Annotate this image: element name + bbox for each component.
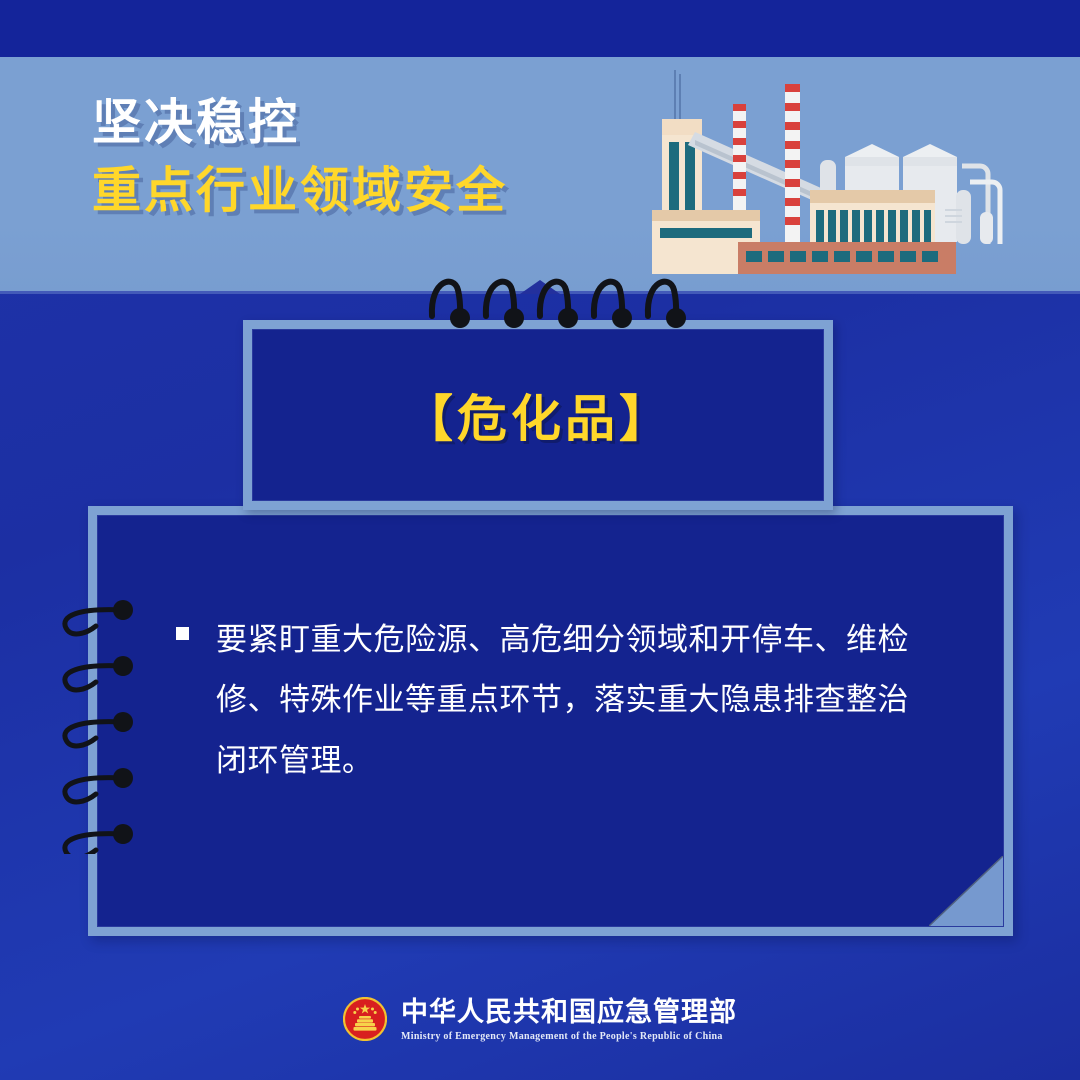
content-card: 要紧盯重大危险源、高危细分领域和开停车、维检修、特殊作业等重点环节，落实重大隐患… — [88, 506, 1013, 936]
section-title-card-inner: 【危化品】 — [252, 329, 824, 501]
section-title-text: 【危化品】 — [403, 379, 673, 451]
page-fold-icon — [929, 856, 1003, 926]
content-card-inner: 要紧盯重大危险源、高危细分领域和开停车、维检修、特殊作业等重点环节，落实重大隐患… — [97, 515, 1004, 927]
factory-illustration-icon — [640, 62, 1080, 294]
list-item: 要紧盯重大危险源、高危细分领域和开停车、维检修、特殊作业等重点环节，落实重大隐患… — [98, 516, 1003, 791]
spiral-binding-top-icon — [420, 260, 690, 330]
page-title: 坚决稳控 重点行业领域安全 — [92, 95, 508, 221]
national-emblem-icon — [343, 997, 387, 1041]
footer: 中华人民共和国应急管理部 Ministry of Emergency Manag… — [0, 997, 1080, 1042]
content-body-text: 要紧盯重大危险源、高危细分领域和开停车、维检修、特殊作业等重点环节，落实重大隐患… — [216, 610, 933, 791]
top-band — [0, 0, 1080, 58]
square-bullet-icon — [176, 627, 189, 640]
spiral-binding-left-icon — [52, 594, 138, 854]
headline-line-1: 坚决稳控 — [92, 95, 508, 153]
poster-root: 坚决稳控 重点行业领域安全 — [0, 0, 1080, 1080]
section-title-card: 【危化品】 — [243, 320, 833, 510]
footer-agency-en: Ministry of Emergency Management of the … — [401, 1031, 723, 1042]
footer-agency-cn: 中华人民共和国应急管理部 — [401, 997, 737, 1028]
headline-line-2: 重点行业领域安全 — [92, 163, 508, 221]
body-area: 【危化品】 要紧盯重大危险源、高危细分领域和开停车、维检修、特殊作业等重点环节，… — [0, 294, 1080, 1080]
footer-text-block: 中华人民共和国应急管理部 Ministry of Emergency Manag… — [401, 997, 737, 1042]
